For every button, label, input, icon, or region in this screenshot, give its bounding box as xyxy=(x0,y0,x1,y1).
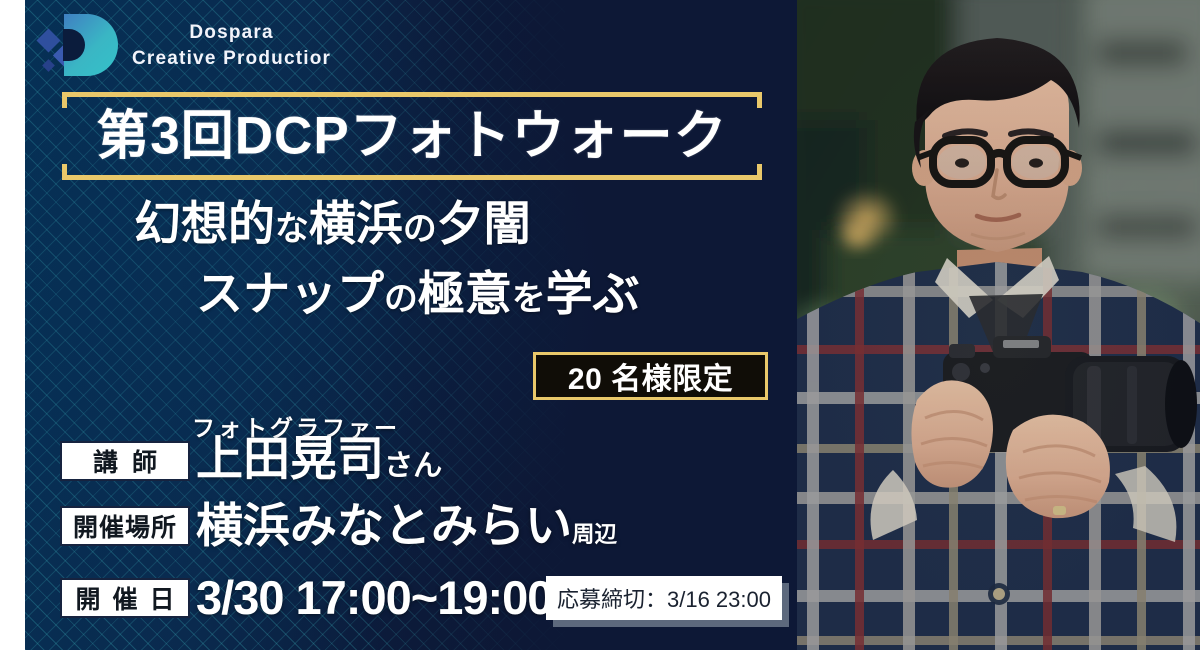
frame-corner-bottom-right xyxy=(757,164,762,180)
capacity-badge: 20 名様限定 xyxy=(533,352,768,400)
instructor-label: 講師 xyxy=(60,441,190,481)
frame-top-rule xyxy=(62,92,762,97)
subtitle-1-part-1: 幻想的 xyxy=(134,197,275,250)
venue-name-suffix: 周辺 xyxy=(572,522,617,547)
subtitle-2-part-2: の xyxy=(384,280,418,318)
page-title: 第3回DCPフォトウォーク xyxy=(72,110,752,163)
frame-corner-top-right xyxy=(757,92,762,108)
photographer-portrait-photo xyxy=(797,0,1200,650)
subtitle-2-part-3: 極意 xyxy=(418,267,512,320)
subtitle-2-part-1: スナップ xyxy=(196,267,384,320)
subtitle-1-part-3: 横浜 xyxy=(309,197,403,250)
left-white-margin xyxy=(0,0,25,650)
instructor-name-text: 上田晃司 xyxy=(196,432,384,485)
left-info-panel: Dospara Creative Productior 第3回DCPフォトウォー… xyxy=(0,0,797,650)
capacity-badge-label: 20 名様限定 xyxy=(568,354,733,398)
brand-line-2: Creative Productior xyxy=(132,46,331,72)
frame-corner-bottom-left xyxy=(62,164,67,180)
subtitle-1-part-5: 夕闇 xyxy=(437,197,531,250)
logo-letter-d-icon xyxy=(64,14,118,76)
frame-bottom-rule xyxy=(62,175,762,180)
date-value: 3/30 17:00~19:00 xyxy=(196,574,552,621)
subtitle-1-part-2: な xyxy=(275,210,309,248)
venue-name-text: 横浜みなとみらい xyxy=(196,499,572,552)
brand-name: Dospara Creative Productior xyxy=(132,20,331,72)
venue-name: 横浜みなとみらい周辺 xyxy=(196,502,617,549)
instructor-name-suffix: さん xyxy=(384,450,442,482)
frame-corner-top-left xyxy=(62,92,67,108)
subtitle-line-2: スナップの極意を学ぶ xyxy=(196,270,640,317)
event-banner: Dospara Creative Productior 第3回DCPフォトウォー… xyxy=(0,0,1200,650)
subtitle-2-part-4: を xyxy=(512,280,546,318)
subtitle-line-1: 幻想的な横浜の夕闇 xyxy=(134,200,531,247)
dospara-d-logo-icon xyxy=(40,8,118,84)
application-deadline-box: 応募締切：3/16 23:00 xyxy=(546,576,782,620)
instructor-name: 上田晃司さん xyxy=(196,435,442,482)
venue-label: 開催場所 xyxy=(60,506,190,546)
application-deadline-text: 応募締切：3/16 23:00 xyxy=(557,582,771,614)
subtitle-2-part-5: 学ぶ xyxy=(546,267,640,320)
portrait-illustration xyxy=(797,0,1200,650)
subtitle-1-part-4: の xyxy=(403,210,437,248)
brand-line-1: Dospara xyxy=(132,20,331,46)
logo-square-icon xyxy=(42,59,55,72)
logo-square-icon xyxy=(36,28,60,52)
main-title-frame: 第3回DCPフォトウォーク xyxy=(62,92,762,180)
date-label: 開催日 xyxy=(60,578,190,618)
brand-logo-block: Dospara Creative Productior xyxy=(40,8,331,84)
